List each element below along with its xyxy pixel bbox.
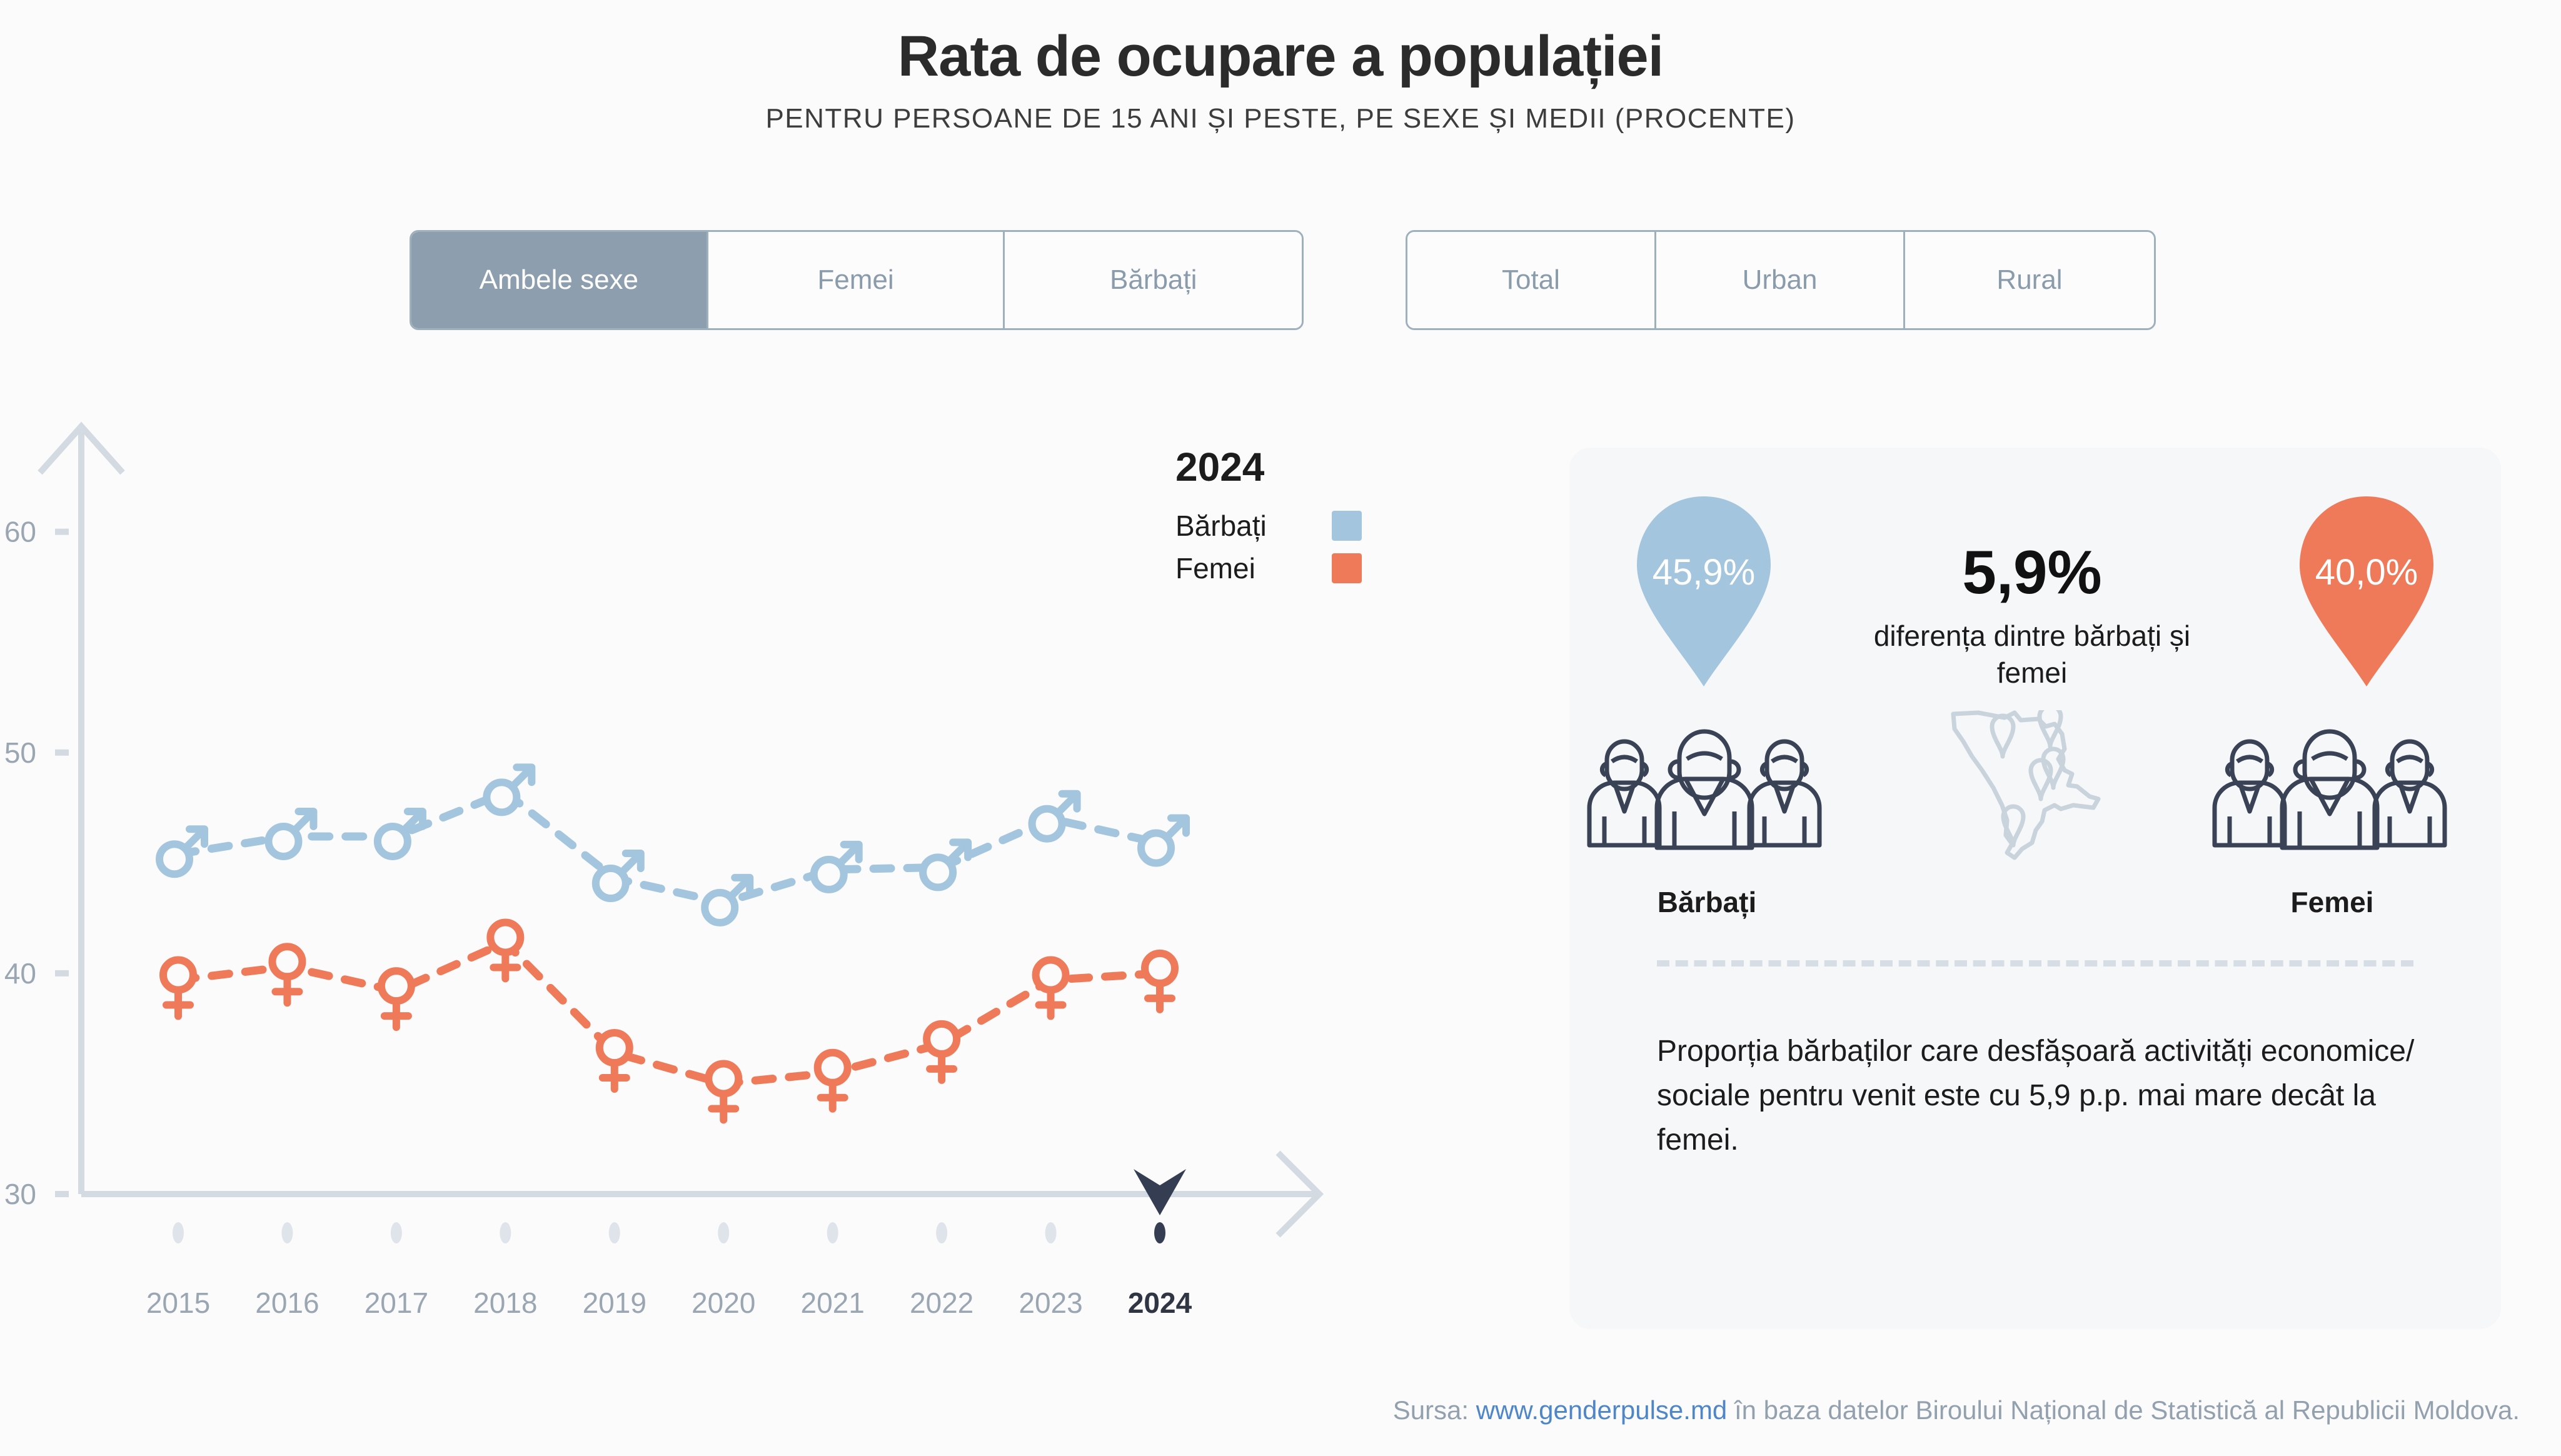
data-point-femei-2023[interactable] <box>1036 960 1066 1016</box>
moldova-map-icon <box>1945 710 2126 873</box>
map-pin-femei: 40,0% <box>2288 491 2445 691</box>
page-title: Rata de ocupare a populației <box>0 26 2561 87</box>
data-point-bărbați-2022[interactable] <box>923 842 968 887</box>
tab-rural[interactable]: Rural <box>1905 232 2154 328</box>
data-point-femei-2022[interactable] <box>927 1024 957 1080</box>
difference-description: diferența dintre bărbați și femei <box>1838 618 2226 691</box>
data-point-bărbați-2023[interactable] <box>1032 794 1077 839</box>
difference-value: 5,9% <box>1838 541 2226 603</box>
svg-text:2023: 2023 <box>1019 1287 1082 1319</box>
header: Rata de ocupare a populației PENTRU PERS… <box>0 0 2561 134</box>
source-link[interactable]: www.genderpulse.md <box>1476 1395 1728 1425</box>
source-prefix: Sursa: <box>1393 1395 1476 1425</box>
data-point-bărbați-2019[interactable] <box>596 853 641 898</box>
svg-text:60: 60 <box>4 516 36 548</box>
legend-swatch-femei <box>1332 553 1362 583</box>
data-point-bărbați-2017[interactable] <box>378 811 423 856</box>
map-pin-barbati: 45,9% <box>1626 491 1782 691</box>
pin-value-femei: 40,0% <box>2288 551 2445 593</box>
svg-text:2017: 2017 <box>365 1287 428 1319</box>
svg-text:30: 30 <box>4 1178 36 1210</box>
group-label-barbati: Bărbați <box>1576 885 1838 919</box>
people-icons-barbati <box>1576 723 1838 848</box>
data-point-femei-2017[interactable] <box>381 971 411 1027</box>
sex-filter-group: Ambele sexe Femei Bărbați <box>410 230 1304 330</box>
legend-swatch-barbati <box>1332 511 1362 541</box>
filter-bar: Ambele sexe Femei Bărbați Total Urban Ru… <box>0 230 2561 336</box>
pin-row: 45,9% 5,9% diferența dintre bărbați și f… <box>1569 491 2501 698</box>
group-label-femei: Femei <box>2201 885 2463 919</box>
tab-urban[interactable]: Urban <box>1656 232 1905 328</box>
people-icons-femei <box>2201 723 2463 848</box>
pin-value-barbati: 45,9% <box>1626 551 1782 593</box>
svg-text:2018: 2018 <box>473 1287 537 1319</box>
data-point-femei-2019[interactable] <box>600 1033 630 1089</box>
legend-label-barbati: Bărbați <box>1175 509 1332 543</box>
svg-text:2015: 2015 <box>146 1287 210 1319</box>
data-point-femei-2016[interactable] <box>272 946 302 1003</box>
tab-barbati[interactable]: Bărbați <box>1005 232 1302 328</box>
data-point-bărbați-2024[interactable] <box>1141 818 1186 863</box>
data-point-femei-2024[interactable] <box>1145 953 1175 1010</box>
svg-text:2019: 2019 <box>583 1287 647 1319</box>
data-point-femei-2021[interactable] <box>818 1053 848 1109</box>
tab-total[interactable]: Total <box>1407 232 1656 328</box>
difference-stat: 5,9% diferența dintre bărbați și femei <box>1838 541 2226 691</box>
legend-year: 2024 <box>1175 444 1438 490</box>
data-point-bărbați-2016[interactable] <box>268 811 313 856</box>
area-filter-group: Total Urban Rural <box>1406 230 2156 330</box>
infographic-page: Rata de ocupare a populației PENTRU PERS… <box>0 0 2561 1456</box>
legend-item-barbati[interactable]: Bărbați <box>1175 511 1438 540</box>
svg-text:2016: 2016 <box>255 1287 319 1319</box>
data-point-femei-2018[interactable] <box>490 922 520 978</box>
source-line: Sursa: www.genderpulse.md în baza datelo… <box>0 1395 2520 1425</box>
legend-label-femei: Femei <box>1175 551 1332 585</box>
tab-femei[interactable]: Femei <box>708 232 1005 328</box>
svg-text:2022: 2022 <box>910 1287 974 1319</box>
svg-text:2024: 2024 <box>1128 1287 1192 1319</box>
three-persons-icon <box>1576 723 1838 854</box>
data-point-bărbați-2018[interactable] <box>486 767 531 812</box>
legend-item-femei[interactable]: Femei <box>1175 554 1438 583</box>
data-point-femei-2015[interactable] <box>163 960 193 1016</box>
svg-text:40: 40 <box>4 957 36 990</box>
source-suffix: în baza datelor Biroului Național de Sta… <box>1727 1395 2520 1425</box>
chart-legend: 2024 Bărbați Femei <box>1175 444 1438 596</box>
data-point-femei-2020[interactable] <box>708 1063 738 1120</box>
svg-text:50: 50 <box>4 736 36 769</box>
panel-divider <box>1657 960 2413 966</box>
tab-ambele-sexe[interactable]: Ambele sexe <box>411 232 708 328</box>
svg-text:2021: 2021 <box>800 1287 864 1319</box>
summary-panel: 45,9% 5,9% diferența dintre bărbați și f… <box>1569 448 2501 1329</box>
panel-note: Proporția bărbaților care desfășoară act… <box>1657 1029 2432 1162</box>
moldova-map-outline <box>1945 710 2126 873</box>
svg-text:2020: 2020 <box>692 1287 755 1319</box>
page-subtitle: PENTRU PERSOANE DE 15 ANI ȘI PESTE, PE S… <box>0 103 2561 134</box>
three-persons-icon <box>2201 723 2463 854</box>
